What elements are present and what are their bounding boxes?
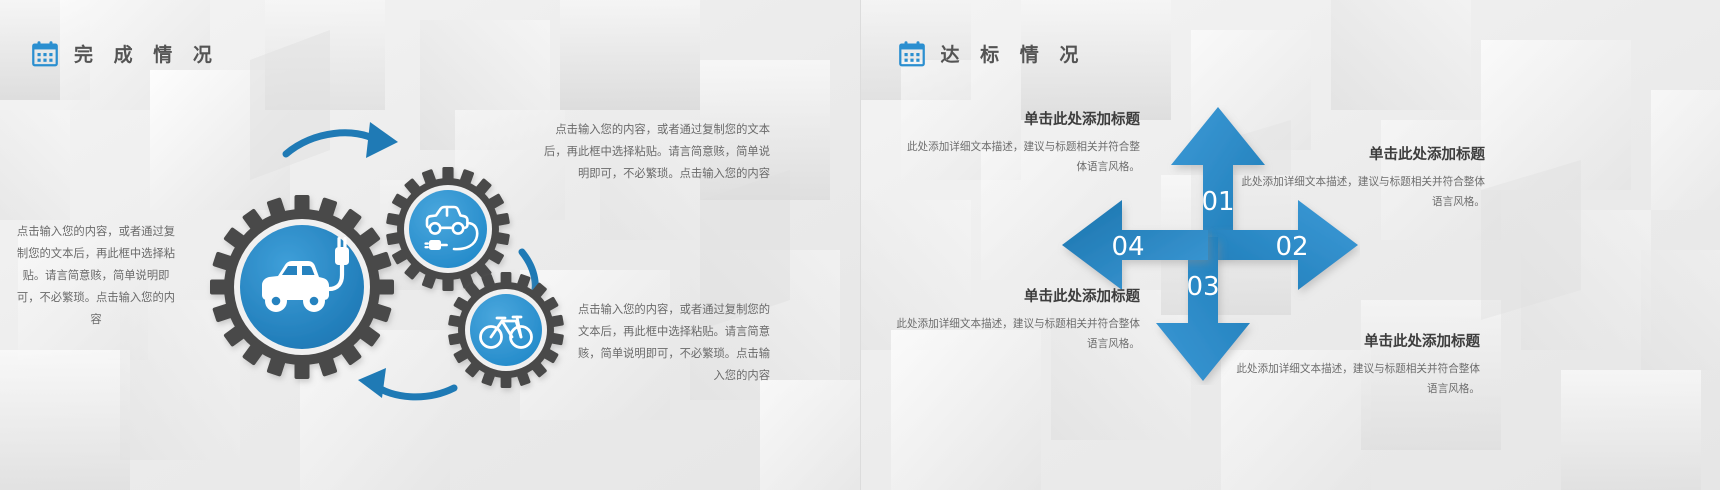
gear-medium [386, 167, 510, 291]
achievement-item-4: 单击此处添加标题 此处添加详细文本描述，建议与标题相关并符合整体语言风格。 [1232, 330, 1480, 399]
achievement-item-1-title: 单击此处添加标题 [898, 108, 1140, 129]
slide-header-right: 达 标 情 况 [897, 27, 1086, 79]
achievement-item-2: 单击此处添加标题 此处添加详细文本描述，建议与标题相关并符合整体语言风格。 [1240, 143, 1485, 212]
slide-header-left: 完 成 情 况 [30, 27, 219, 79]
achievement-item-1: 单击此处添加标题 此处添加详细文本描述，建议与标题相关并符合整体语言风格。 [898, 108, 1140, 177]
achievement-item-4-desc: 此处添加详细文本描述，建议与标题相关并符合整体语言风格。 [1232, 360, 1480, 399]
gear-diagram [186, 120, 586, 410]
achievement-item-3-title: 单击此处添加标题 [896, 285, 1140, 306]
slide-completion-status: 完 成 情 况 点击输入您的内容，或者通过复制您的文本后，再此框中选择粘贴。请言… [0, 0, 860, 490]
paragraph-bottom-right: 点击输入您的内容，或者通过复制您的文本后，再此框中选择粘贴。请言简意赅，简单说明… [570, 299, 770, 387]
page-title-right: 达 标 情 况 [941, 40, 1086, 67]
gear-diagram-svg [186, 120, 586, 410]
gear-large [210, 195, 394, 379]
blade-number-01: 01 [1201, 187, 1234, 217]
achievement-item-2-desc: 此处添加详细文本描述，建议与标题相关并符合整体语言风格。 [1240, 173, 1485, 212]
achievement-item-2-title: 单击此处添加标题 [1240, 143, 1485, 164]
calendar-icon-svg [30, 38, 60, 68]
gear-small [448, 272, 564, 388]
paragraph-left: 点击输入您的内容，或者通过复制您的文本后，再此框中选择粘贴。请言简意赅，简单说明… [16, 221, 176, 331]
calendar-icon [30, 38, 60, 68]
achievement-item-1-desc: 此处添加详细文本描述，建议与标题相关并符合整体语言风格。 [898, 138, 1140, 177]
achievement-item-4-title: 单击此处添加标题 [1232, 330, 1480, 351]
slide-deck: 完 成 情 况 点击输入您的内容，或者通过复制您的文本后，再此框中选择粘贴。请言… [0, 0, 1720, 490]
paragraph-top-right: 点击输入您的内容，或者通过复制您的文本后，再此框中选择粘贴。请言简意赅，简单说明… [540, 119, 770, 185]
achievement-item-3-desc: 此处添加详细文本描述，建议与标题相关并符合整体语言风格。 [896, 315, 1140, 354]
blade-number-02: 02 [1275, 232, 1308, 262]
achievement-item-3: 单击此处添加标题 此处添加详细文本描述，建议与标题相关并符合整体语言风格。 [896, 285, 1140, 354]
arrow-bottom-left-icon [358, 368, 454, 398]
page-title-left: 完 成 情 况 [74, 40, 219, 67]
arrow-top-right-icon [286, 122, 398, 158]
blade-number-03: 03 [1186, 272, 1219, 302]
calendar-icon [897, 38, 927, 68]
blade-number-04: 04 [1111, 232, 1144, 262]
calendar-icon-svg [897, 38, 927, 68]
